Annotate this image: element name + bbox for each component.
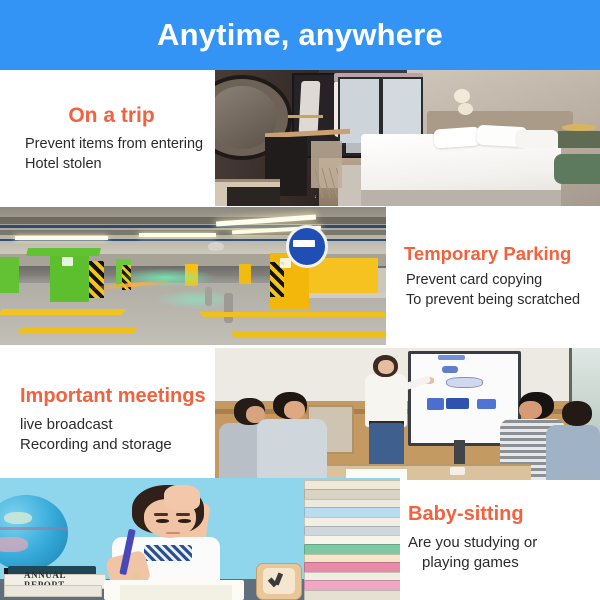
garage-light-strip-1	[15, 236, 108, 240]
presenter-blouse	[365, 374, 407, 427]
garage-light-strip-2	[139, 233, 216, 236]
security-camera-dome-icon	[208, 242, 223, 252]
section-body-baby-sitting: Are you studying or playing games	[408, 533, 600, 574]
stacked-book	[304, 590, 400, 600]
globe-landmass-2	[0, 537, 28, 553]
section-line: Hotel stolen	[25, 155, 215, 175]
child-studying-photo: ANNUAL REPORT	[0, 478, 400, 600]
hotel-brass-rail	[288, 115, 323, 118]
girl-hand-on-head	[164, 485, 200, 509]
parking-garage-photo	[0, 207, 386, 345]
section-heading-on-a-trip: On a trip	[0, 104, 215, 128]
infographic-page: Anytime, anywhere	[0, 0, 600, 600]
section-body-important-meetings: live broadcast Recording and storage	[20, 415, 215, 456]
direction-arrow-icon	[293, 240, 314, 247]
parking-garage-scene	[0, 207, 386, 345]
garage-hazard-stripe-1	[89, 261, 104, 298]
whiteboard-diagram-cloud	[446, 377, 483, 388]
whiteboard-diagram-node-1	[438, 355, 465, 360]
section-line: playing games	[408, 553, 600, 573]
meeting-room-photo	[215, 348, 600, 480]
section-baby-sitting: Baby-sitting Are you studying or playing…	[408, 503, 600, 574]
hotel-nightstand	[558, 131, 600, 147]
attendee-right-2-hair	[562, 401, 593, 426]
section-line: Prevent items from entering	[25, 135, 215, 155]
header-banner: Anytime, anywhere	[0, 0, 600, 70]
section-body-temporary-parking: Prevent card copying To prevent being sc…	[404, 271, 600, 310]
hotel-pillow-1	[434, 127, 481, 149]
attendee-right-2-body	[546, 425, 600, 480]
notebook-page	[120, 585, 232, 600]
section-body-on-a-trip: Prevent items from entering Hotel stolen	[0, 135, 215, 174]
garage-floor-line-4	[230, 331, 386, 337]
section-line: To prevent being scratched	[406, 291, 600, 311]
whiteboard-diagram-server	[427, 398, 444, 410]
hotel-side-table	[554, 154, 600, 184]
garage-green-pillar-left	[0, 257, 19, 293]
girl-mouth	[166, 532, 180, 534]
section-heading-temporary-parking: Temporary Parking	[404, 243, 600, 264]
garage-ceiling-beam-1	[0, 217, 386, 224]
garage-bollard-2	[205, 287, 212, 306]
meeting-cup	[450, 467, 465, 475]
attendee-left-2-face	[284, 401, 305, 419]
hotel-wall-sconce-upper	[454, 89, 470, 103]
girl-eyebrow-right	[176, 513, 190, 515]
section-heading-baby-sitting: Baby-sitting	[408, 503, 600, 526]
section-temporary-parking: Temporary Parking Prevent card copying T…	[404, 243, 600, 310]
book-stack	[304, 478, 400, 600]
garage-pipe-1	[0, 225, 386, 228]
page-title: Anytime, anywhere	[157, 17, 443, 53]
meeting-room-scene	[215, 348, 600, 480]
attendee-right-1-face	[519, 401, 542, 419]
section-line: Are you studying or	[408, 533, 600, 553]
hotel-bed-base	[361, 190, 561, 206]
child-studying-scene: ANNUAL REPORT	[0, 478, 400, 600]
garage-floor-line-3	[199, 312, 386, 317]
section-line: live broadcast	[20, 415, 215, 435]
whiteboard-diagram-node-2	[442, 366, 457, 373]
section-line: Prevent card copying	[406, 271, 600, 291]
study-book-bottom	[4, 585, 102, 597]
globe-meridian	[0, 527, 68, 531]
whiteboard-diagram-pc	[446, 398, 469, 409]
section-line: Recording and storage	[20, 435, 215, 455]
hotel-wall-sconce-lower	[458, 103, 473, 115]
section-on-a-trip: On a trip Prevent items from entering Ho…	[0, 104, 215, 174]
hotel-hanging-garment-1	[298, 81, 320, 133]
garage-green-soffit	[26, 248, 101, 256]
section-important-meetings: Important meetings live broadcast Record…	[20, 385, 215, 456]
garage-bollard-1	[224, 293, 233, 323]
whiteboard-diagram-laptop	[477, 399, 496, 408]
annual-report-label: ANNUAL REPORT	[24, 576, 92, 583]
hotel-room-scene	[215, 70, 600, 206]
garage-zone-letter-b-right	[280, 258, 291, 268]
globe-landmass-1	[4, 512, 32, 524]
hotel-bench-drawer	[227, 187, 281, 206]
garage-floor-line-2	[17, 328, 137, 334]
hotel-chair-legs	[315, 168, 338, 198]
garage-zone-letter-b-left	[62, 257, 74, 267]
attendee-left-2-body	[257, 419, 326, 480]
hotel-room-photo	[215, 70, 600, 206]
pencil-tip	[131, 571, 139, 578]
girl-checkered-bow	[144, 545, 192, 561]
garage-yellow-pillar-far-2	[239, 264, 251, 285]
hotel-pillow-3	[515, 130, 557, 148]
garage-curb	[309, 293, 386, 299]
section-heading-important-meetings: Important meetings	[20, 385, 215, 408]
presenter-face	[378, 360, 394, 375]
girl-eyebrow-left	[154, 513, 168, 515]
garage-floor-line-1	[0, 309, 126, 315]
